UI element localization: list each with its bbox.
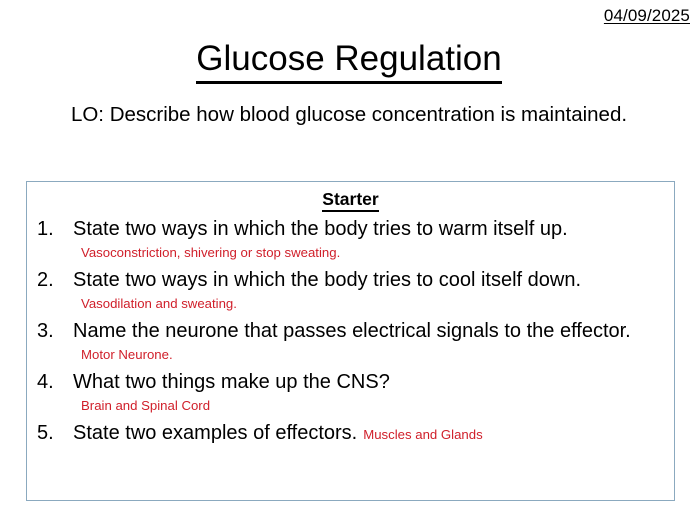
page-title-text: Glucose Regulation (196, 38, 501, 84)
question-text: State two examples of effectors. (73, 422, 357, 444)
question-number: 4. (37, 369, 54, 396)
starter-heading: Starter (27, 188, 674, 212)
question-answer: Muscles and Glands (357, 427, 482, 442)
list-item: 1. State two ways in which the body trie… (27, 216, 674, 263)
question-number: 2. (37, 267, 54, 294)
question-answer: Brain and Spinal Cord (73, 396, 674, 416)
question-answer: Vasodilation and sweating. (73, 294, 674, 314)
list-item: 5. State two examples of effectors.Muscl… (27, 420, 674, 447)
question-answer: Vasoconstriction, shivering or stop swea… (73, 243, 674, 263)
learning-objective: LO: Describe how blood glucose concentra… (62, 100, 636, 130)
list-item: 3. Name the neurone that passes electric… (27, 318, 674, 365)
question-answer: Motor Neurone. (73, 345, 674, 365)
page-title: Glucose Regulation (0, 38, 698, 84)
question-text: State two ways in which the body tries t… (73, 218, 568, 240)
starter-box: Starter 1. State two ways in which the b… (26, 181, 675, 501)
question-text: Name the neurone that passes electrical … (73, 320, 631, 342)
question-text: What two things make up the CNS? (73, 371, 390, 393)
list-item: 4. What two things make up the CNS? Brai… (27, 369, 674, 416)
question-number: 1. (37, 216, 54, 243)
question-number: 3. (37, 318, 54, 345)
starter-heading-text: Starter (322, 188, 378, 212)
list-item: 2. State two ways in which the body trie… (27, 267, 674, 314)
question-number: 5. (37, 420, 54, 447)
question-text: State two ways in which the body tries t… (73, 269, 581, 291)
starter-question-list: 1. State two ways in which the body trie… (27, 216, 674, 447)
slide-date: 04/09/2025 (604, 6, 690, 26)
